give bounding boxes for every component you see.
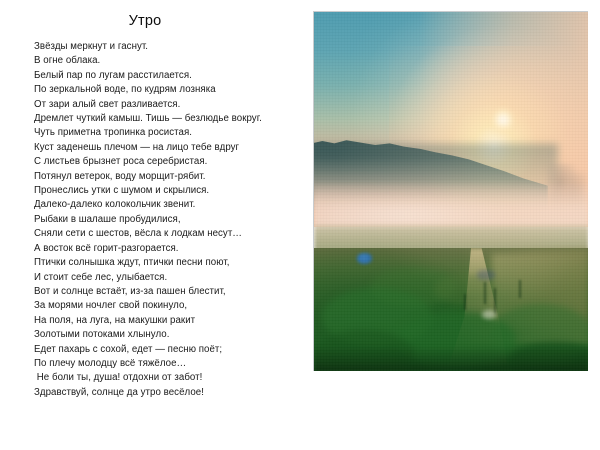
blue-object <box>357 253 372 264</box>
pale-highlight <box>482 310 496 319</box>
poem-line: Сняли сети с шестов, вёсла к лодкам несу… <box>34 227 310 241</box>
poem-line: Рыбаки в шалаше пробудилися, <box>34 213 310 227</box>
poem-line: На поля, на луга, на макушки ракит <box>34 314 310 328</box>
poem-line: Здравствуй, солнце да утро весёлое! <box>34 386 310 400</box>
poem-line: По плечу молодцу всё тяжёлое… <box>34 357 310 371</box>
poem-line: Едет пахарь с сохой, едет — песню поёт; <box>34 343 310 357</box>
poem-line: Птички солнышка ждут, птички песни поют, <box>34 256 310 270</box>
poem-line: Дремлет чуткий камыш. Тишь — безлюдье во… <box>34 112 310 126</box>
shrub-silhouette <box>477 270 495 280</box>
poem-line: Не боли ты, душа! отдохни от забот! <box>34 371 310 385</box>
grass-stalk <box>464 294 466 310</box>
grass-stalk <box>494 288 496 314</box>
poem-line: За морями ночлег свой покинуло, <box>34 299 310 313</box>
poem-line: И стоит себе лес, улыбается. <box>34 271 310 285</box>
page-canvas: Утро Звёзды меркнут и гаснут. В огне обл… <box>0 0 600 450</box>
poem-line: Куст заденешь плечом — на лицо тебе вдру… <box>34 141 310 155</box>
poem-line: Потянул ветерок, воду морщит-рябит. <box>34 170 310 184</box>
poem-line: А восток всё горит-разгорается. <box>34 242 310 256</box>
poem-line: Чуть приметна тропинка росистая. <box>34 126 310 140</box>
poem-line: Белый пар по лугам расстилается. <box>34 69 310 83</box>
grass-stalk <box>519 280 521 298</box>
sun-icon <box>494 109 512 133</box>
poem-line: С листьев брызнет роса серебристая. <box>34 155 310 169</box>
poem-line: Вот и солнце встаёт, из-за пашен блестит… <box>34 285 310 299</box>
poem-line: Золотыми потоками хлынуло. <box>34 328 310 342</box>
poem-line: По зеркальной воде, по кудрям лозняка <box>34 83 310 97</box>
grass-stalk <box>484 282 486 304</box>
poem-line: Звёзды меркнут и гаснут. <box>34 40 310 54</box>
meadow-shadow <box>314 346 588 371</box>
photo-canvas <box>314 12 588 371</box>
poem-line: В огне облака. <box>34 54 310 68</box>
page-title: Утро <box>0 13 290 29</box>
poem-body: Звёзды меркнут и гаснут. В огне облака. … <box>34 40 310 400</box>
poem-line: От зари алый свет разливается. <box>34 98 310 112</box>
poem-line: Пронеслись утки с шумом и скрылися. <box>34 184 310 198</box>
sunrise-meadow-photo <box>313 11 588 371</box>
poem-line: Далеко-далеко колокольчик звенит. <box>34 198 310 212</box>
poem-column: Утро Звёзды меркнут и гаснут. В огне обл… <box>0 0 310 450</box>
